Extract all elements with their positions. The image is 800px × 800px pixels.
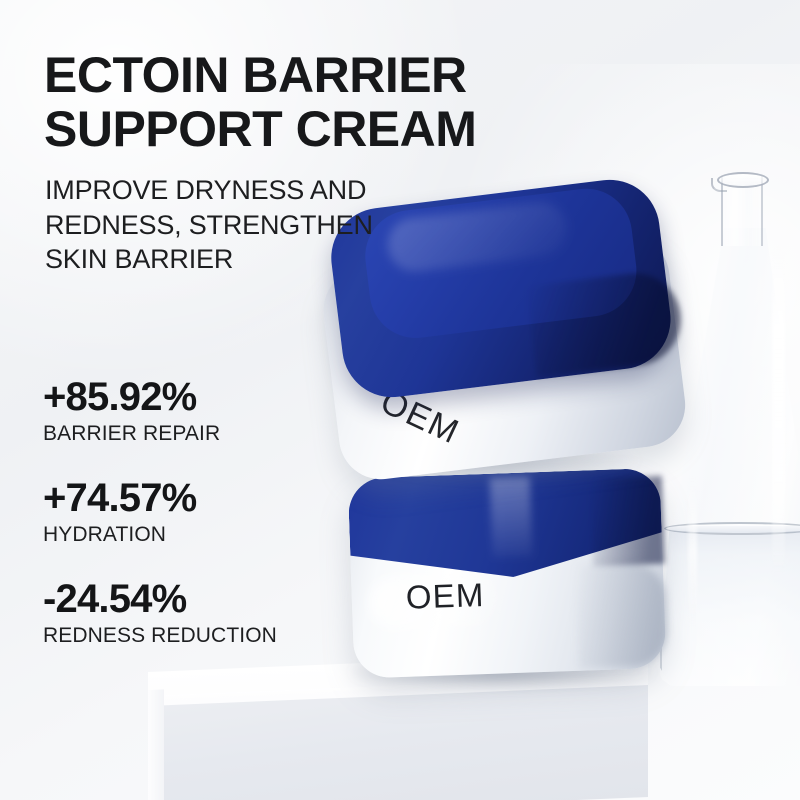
- cream-jar-bottom-brand-label: OEM: [405, 576, 485, 617]
- flask-gloss-highlight-left: [688, 476, 697, 626]
- statistic-value: -24.54%: [43, 579, 343, 619]
- flask-spout: [711, 178, 727, 192]
- statistic-item: +74.57% HYDRATION: [43, 478, 343, 546]
- cream-jar-bottom-lid-gloss: [490, 476, 533, 557]
- cream-jar-bottom-lid-shading: [590, 476, 665, 566]
- statistic-label: HYDRATION: [43, 523, 343, 546]
- product-poster: OEM OEM ECTOIN BARRIER SUPPORT CREAM IMP…: [0, 0, 800, 800]
- statistics-list: +85.92% BARRIER REPAIR +74.57% HYDRATION…: [43, 377, 343, 647]
- statistic-value: +74.57%: [43, 478, 343, 518]
- podium-left-edge: [148, 689, 164, 800]
- statistic-item: +85.92% BARRIER REPAIR: [43, 377, 343, 445]
- page-title: ECTOIN BARRIER SUPPORT CREAM: [44, 48, 564, 156]
- page-subtitle: IMPROVE DRYNESS AND REDNESS, STRENGTHEN …: [45, 173, 390, 277]
- statistic-value: +85.92%: [43, 377, 343, 417]
- cream-jar-bottom-shading: [575, 562, 669, 669]
- statistic-label: BARRIER REPAIR: [43, 422, 343, 445]
- statistic-label: REDNESS REDUCTION: [43, 624, 343, 647]
- flask-gloss-highlight: [772, 246, 785, 576]
- statistic-item: -24.54% REDNESS REDUCTION: [43, 579, 343, 647]
